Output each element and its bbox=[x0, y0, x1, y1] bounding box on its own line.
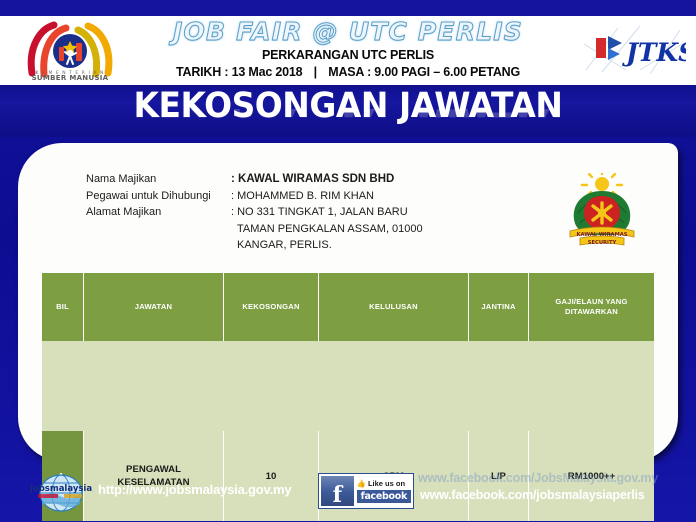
datetime-separator: | bbox=[306, 65, 325, 79]
th-gaji-elaun: GAJI/ELAUN YANG DITAWARKAN bbox=[529, 273, 654, 341]
th-jawatan: JAWATAN bbox=[84, 273, 224, 341]
content-card: Nama Majikan Pegawai untuk Dihubungi Ala… bbox=[18, 143, 678, 461]
footer-bar: jobsmalaysia http://www.jobsmalaysia.gov… bbox=[0, 466, 696, 522]
value-address-line-2: TAMAN PENGKALAN ASSAM, 01000 bbox=[231, 221, 561, 238]
row-gap-spacer bbox=[42, 341, 654, 431]
facebook-url-ghost: www.facebook.com/JobsMalaysia.gov.my bbox=[418, 471, 658, 485]
facebook-f-icon: f bbox=[321, 476, 354, 506]
jobsmalaysia-logo: jobsmalaysia bbox=[30, 474, 92, 512]
poster-page: K E M E N T E R I A N SUMBER MANUSIA JOB… bbox=[0, 0, 696, 522]
facebook-like-row: 👍 Like us on bbox=[357, 479, 411, 488]
page-title-banner: KEKOSONGAN JAWATAN KEKOSONGAN JAWATAN bbox=[0, 85, 696, 137]
jobsmalaysia-logo-text: jobsmalaysia bbox=[30, 484, 92, 494]
jobsmalaysia-website-link[interactable]: http://www.jobsmalaysia.gov.my bbox=[98, 482, 291, 497]
value-employer-name: : KAWAL WIRAMAS SDN BHD bbox=[231, 171, 561, 188]
kawal-wiramas-security-crest: KAWAL WIRAMAS SECURITY bbox=[562, 173, 642, 251]
label-alamat-majikan: Alamat Majikan bbox=[86, 204, 231, 221]
facebook-wordmark: facebook bbox=[357, 490, 411, 503]
header-band: K E M E N T E R I A N SUMBER MANUSIA JOB… bbox=[0, 16, 696, 85]
facebook-like-badge[interactable]: f 👍 Like us on facebook bbox=[318, 473, 414, 509]
label-pegawai-dihubungi: Pegawai untuk Dihubungi bbox=[86, 188, 231, 205]
facebook-badge-text: 👍 Like us on facebook bbox=[357, 479, 411, 503]
jtksm-logo: JTKSM bbox=[582, 24, 686, 76]
facebook-page-link[interactable]: www.facebook.com/jobsmalaysiaperlis bbox=[420, 488, 645, 502]
employer-info: Nama Majikan Pegawai untuk Dihubungi Ala… bbox=[86, 171, 561, 254]
employer-info-labels: Nama Majikan Pegawai untuk Dihubungi Ala… bbox=[86, 171, 231, 254]
value-address-line-3: KANGAR, PERLIS. bbox=[231, 237, 561, 254]
event-time: MASA : 9.00 PAGI – 6.00 PETANG bbox=[328, 65, 520, 79]
value-address-line-1: : NO 331 TINGKAT 1, JALAN BARU bbox=[231, 204, 561, 221]
crest-security-text: SECURITY bbox=[588, 240, 617, 246]
event-date: TARIKH : 13 Mac 2018 bbox=[176, 65, 302, 79]
th-jantina: JANTINA bbox=[469, 273, 529, 341]
facebook-like-label: Like us on bbox=[368, 479, 405, 488]
table-header-row: BIL JAWATAN KEKOSONGAN KELULUSAN JANTINA… bbox=[42, 273, 654, 341]
value-contact-person: : MOHAMMED B. RIM KHAN bbox=[231, 188, 561, 205]
label-nama-majikan: Nama Majikan bbox=[86, 171, 231, 188]
th-gaji-line-2: DITAWARKAN bbox=[531, 307, 652, 317]
employer-info-values: : KAWAL WIRAMAS SDN BHD : MOHAMMED B. RI… bbox=[231, 171, 561, 254]
th-gaji-line-1: GAJI/ELAUN YANG bbox=[531, 297, 652, 307]
th-bil: BIL bbox=[42, 273, 84, 341]
th-kekosongan: KEKOSONGAN bbox=[224, 273, 319, 341]
page-title-reflection: KEKOSONGAN JAWATAN bbox=[21, 109, 675, 123]
vacancy-table-head: BIL JAWATAN KEKOSONGAN KELULUSAN JANTINA… bbox=[42, 273, 654, 341]
th-kelulusan: KELULUSAN bbox=[319, 273, 469, 341]
thumbs-up-icon: 👍 bbox=[357, 479, 366, 488]
jtksm-logo-text: JTKSM bbox=[622, 38, 686, 67]
row-gap-cell bbox=[42, 341, 654, 431]
